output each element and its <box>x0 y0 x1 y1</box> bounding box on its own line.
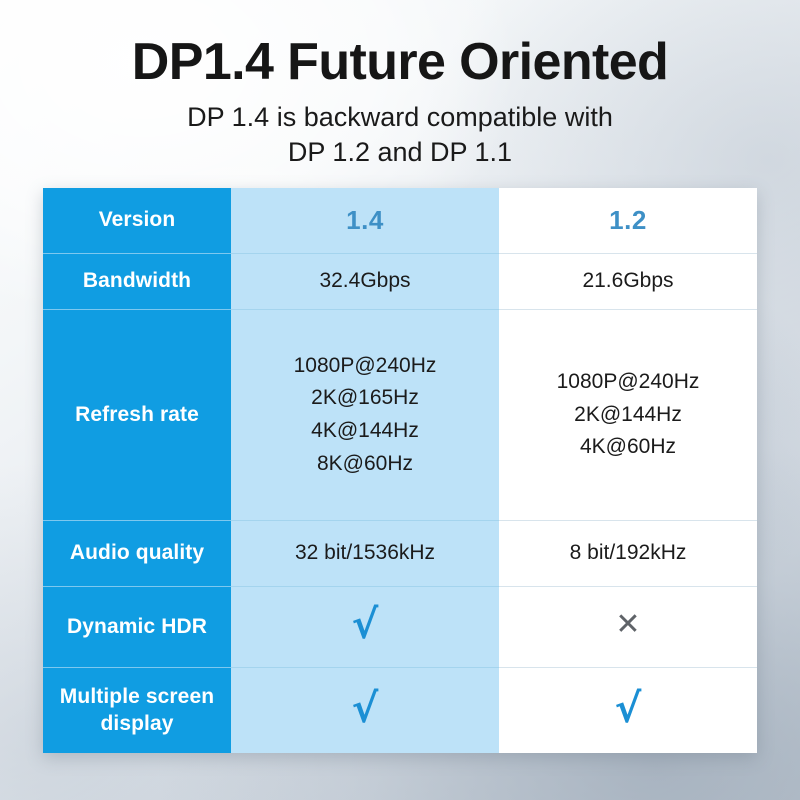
table-row: Version 1.4 1.2 <box>43 188 757 254</box>
cell-version-dp14: 1.4 <box>231 188 499 254</box>
row-label-bandwidth: Bandwidth <box>43 254 231 310</box>
row-label-refresh-rate: Refresh rate <box>43 310 231 521</box>
cross-icon: ✕ <box>615 610 640 640</box>
cell-multiple-screen-display-dp12: √ <box>499 668 757 754</box>
cell-multiple-screen-display-dp14: √ <box>231 668 499 754</box>
comparison-table-container: Version 1.4 1.2 Bandwidth 32.4Gbps 21.6G… <box>43 188 757 753</box>
row-label-version: Version <box>43 188 231 254</box>
cell-bandwidth-dp14: 32.4Gbps <box>231 254 499 310</box>
cell-refresh-rate-dp14: 1080P@240Hz 2K@165Hz 4K@144Hz 8K@60Hz <box>231 310 499 521</box>
cell-dynamic-hdr-dp12: ✕ <box>499 587 757 668</box>
check-icon: √ <box>352 605 379 645</box>
cell-refresh-rate-dp12: 1080P@240Hz 2K@144Hz 4K@60Hz <box>499 310 757 521</box>
table-row: Bandwidth 32.4Gbps 21.6Gbps <box>43 254 757 310</box>
row-label-audio-quality: Audio quality <box>43 521 231 587</box>
cell-audio-quality-dp12: 8 bit/192kHz <box>499 521 757 587</box>
table-row: Multiple screen display √ √ <box>43 668 757 754</box>
table-row: Dynamic HDR √ ✕ <box>43 587 757 668</box>
cell-version-dp12: 1.2 <box>499 188 757 254</box>
header-block: DP1.4 Future Oriented DP 1.4 is backward… <box>0 36 800 169</box>
row-label-dynamic-hdr: Dynamic HDR <box>43 587 231 668</box>
subtitle-line-2: DP 1.2 and DP 1.1 <box>288 137 512 167</box>
page-title: DP1.4 Future Oriented <box>0 36 800 88</box>
page-subtitle: DP 1.4 is backward compatible with DP 1.… <box>0 100 800 169</box>
check-icon: √ <box>615 689 642 729</box>
check-icon: √ <box>352 689 379 729</box>
cell-audio-quality-dp14: 32 bit/1536kHz <box>231 521 499 587</box>
table-row: Refresh rate 1080P@240Hz 2K@165Hz 4K@144… <box>43 310 757 521</box>
comparison-table: Version 1.4 1.2 Bandwidth 32.4Gbps 21.6G… <box>43 188 757 753</box>
subtitle-line-1: DP 1.4 is backward compatible with <box>187 102 613 132</box>
cell-dynamic-hdr-dp14: √ <box>231 587 499 668</box>
product-spec-infographic: DP1.4 Future Oriented DP 1.4 is backward… <box>0 0 800 800</box>
cell-bandwidth-dp12: 21.6Gbps <box>499 254 757 310</box>
table-row: Audio quality 32 bit/1536kHz 8 bit/192kH… <box>43 521 757 587</box>
row-label-multiple-screen-display: Multiple screen display <box>43 668 231 754</box>
